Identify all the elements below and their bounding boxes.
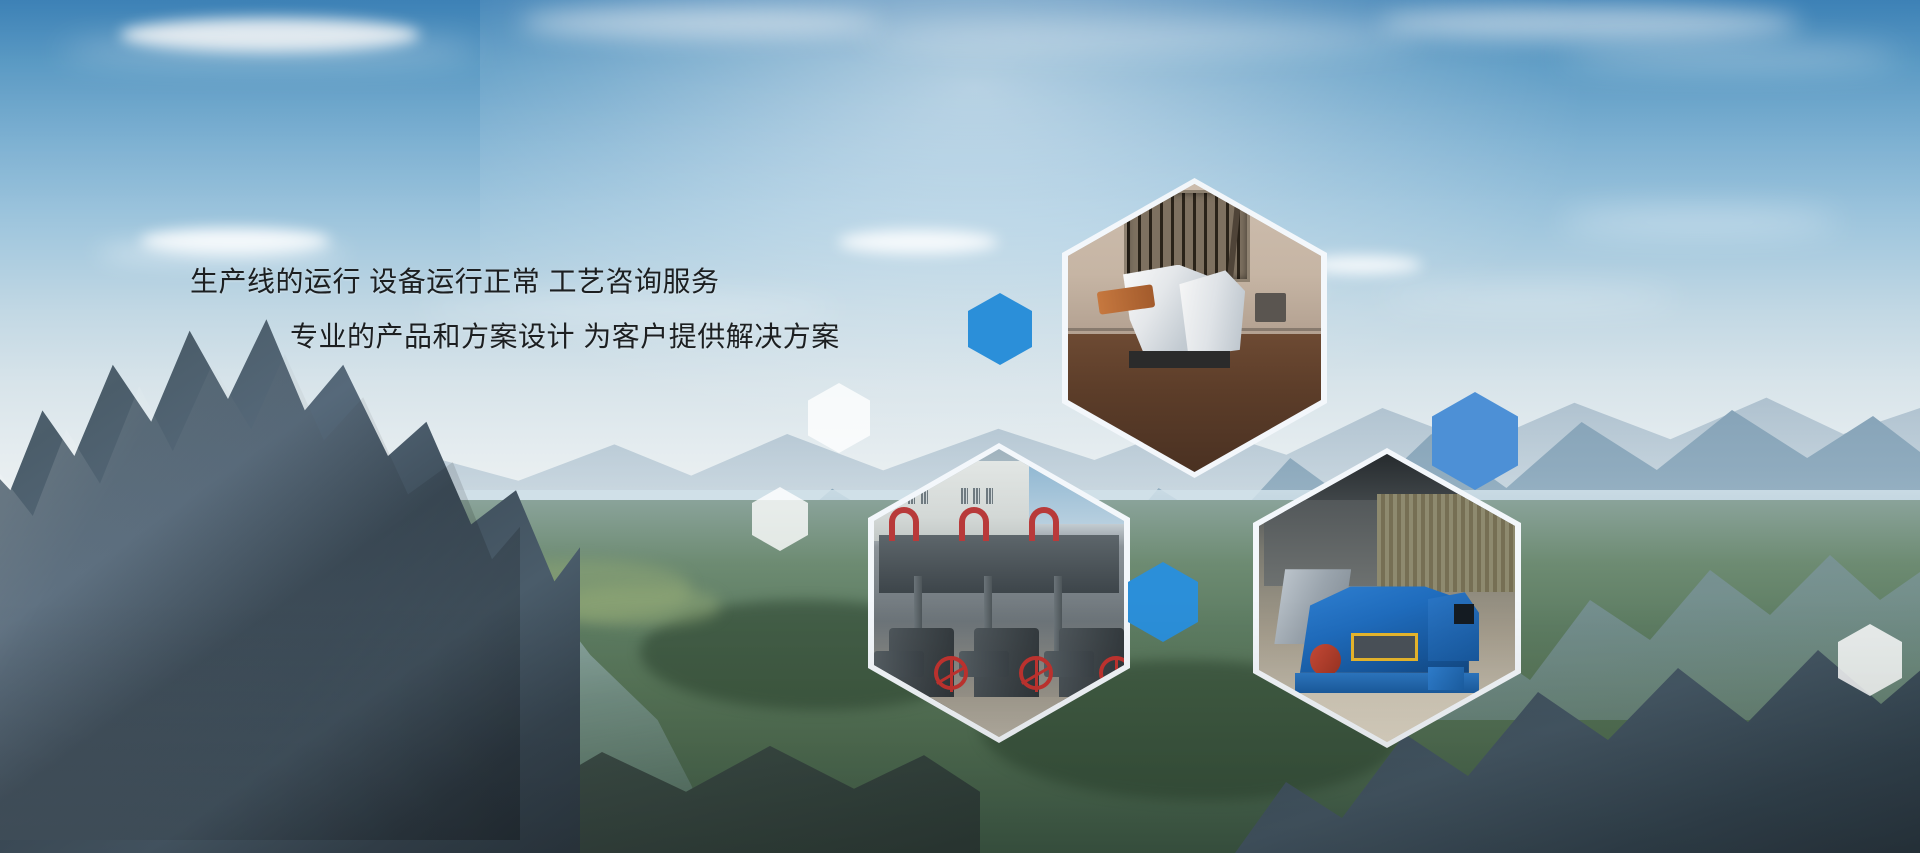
hex-photo-blue-shredder[interactable] [1253,448,1521,748]
headline-line-1: 生产线的运行 设备运行正常 工艺咨询服务 [190,268,950,296]
red-pipe-arch [959,507,989,541]
field-patch [560,586,720,626]
cloud-icon [60,40,480,62]
cloud-icon [96,244,346,262]
sky-glow [480,0,1580,440]
casting-machine-head [1179,270,1245,356]
blue-machine-cab [1428,592,1479,661]
banner-headline: 生产线的运行 设备运行正常 工艺咨询服务 专业的产品和方案设计 为客户提供解决方… [190,268,950,351]
red-pipe-arch [889,507,919,541]
hex-photo-gray-machinery[interactable] [868,443,1130,743]
red-pipe-arch [1029,507,1059,541]
floor-crate [1255,293,1285,322]
hex-photo-inner [1068,184,1321,472]
yard-ground [874,697,1124,737]
hex-photo-inner [874,449,1124,737]
warehouse-floor [1259,690,1515,742]
cloud-icon [1560,46,1900,68]
hex-photo-inner [1259,454,1515,742]
cloud-icon [1380,290,1680,306]
hero-banner: 生产线的运行 设备运行正常 工艺咨询服务 专业的产品和方案设计 为客户提供解决方… [0,0,1920,853]
yellow-framed-panel [1351,633,1418,662]
cab-window [1454,604,1474,624]
blue-duct-box [1428,667,1464,690]
headline-line-2: 专业的产品和方案设计 为客户提供解决方案 [190,323,950,351]
cloud-icon [520,8,880,38]
machine-base [1129,351,1230,368]
hex-photo-white-casting-machine[interactable] [1062,178,1327,478]
cloud-icon [1380,6,1800,40]
cloud-icon [838,230,998,254]
red-rotor [1310,644,1341,676]
cloud-icon [1560,210,1840,234]
cloud-icon [860,24,1420,50]
